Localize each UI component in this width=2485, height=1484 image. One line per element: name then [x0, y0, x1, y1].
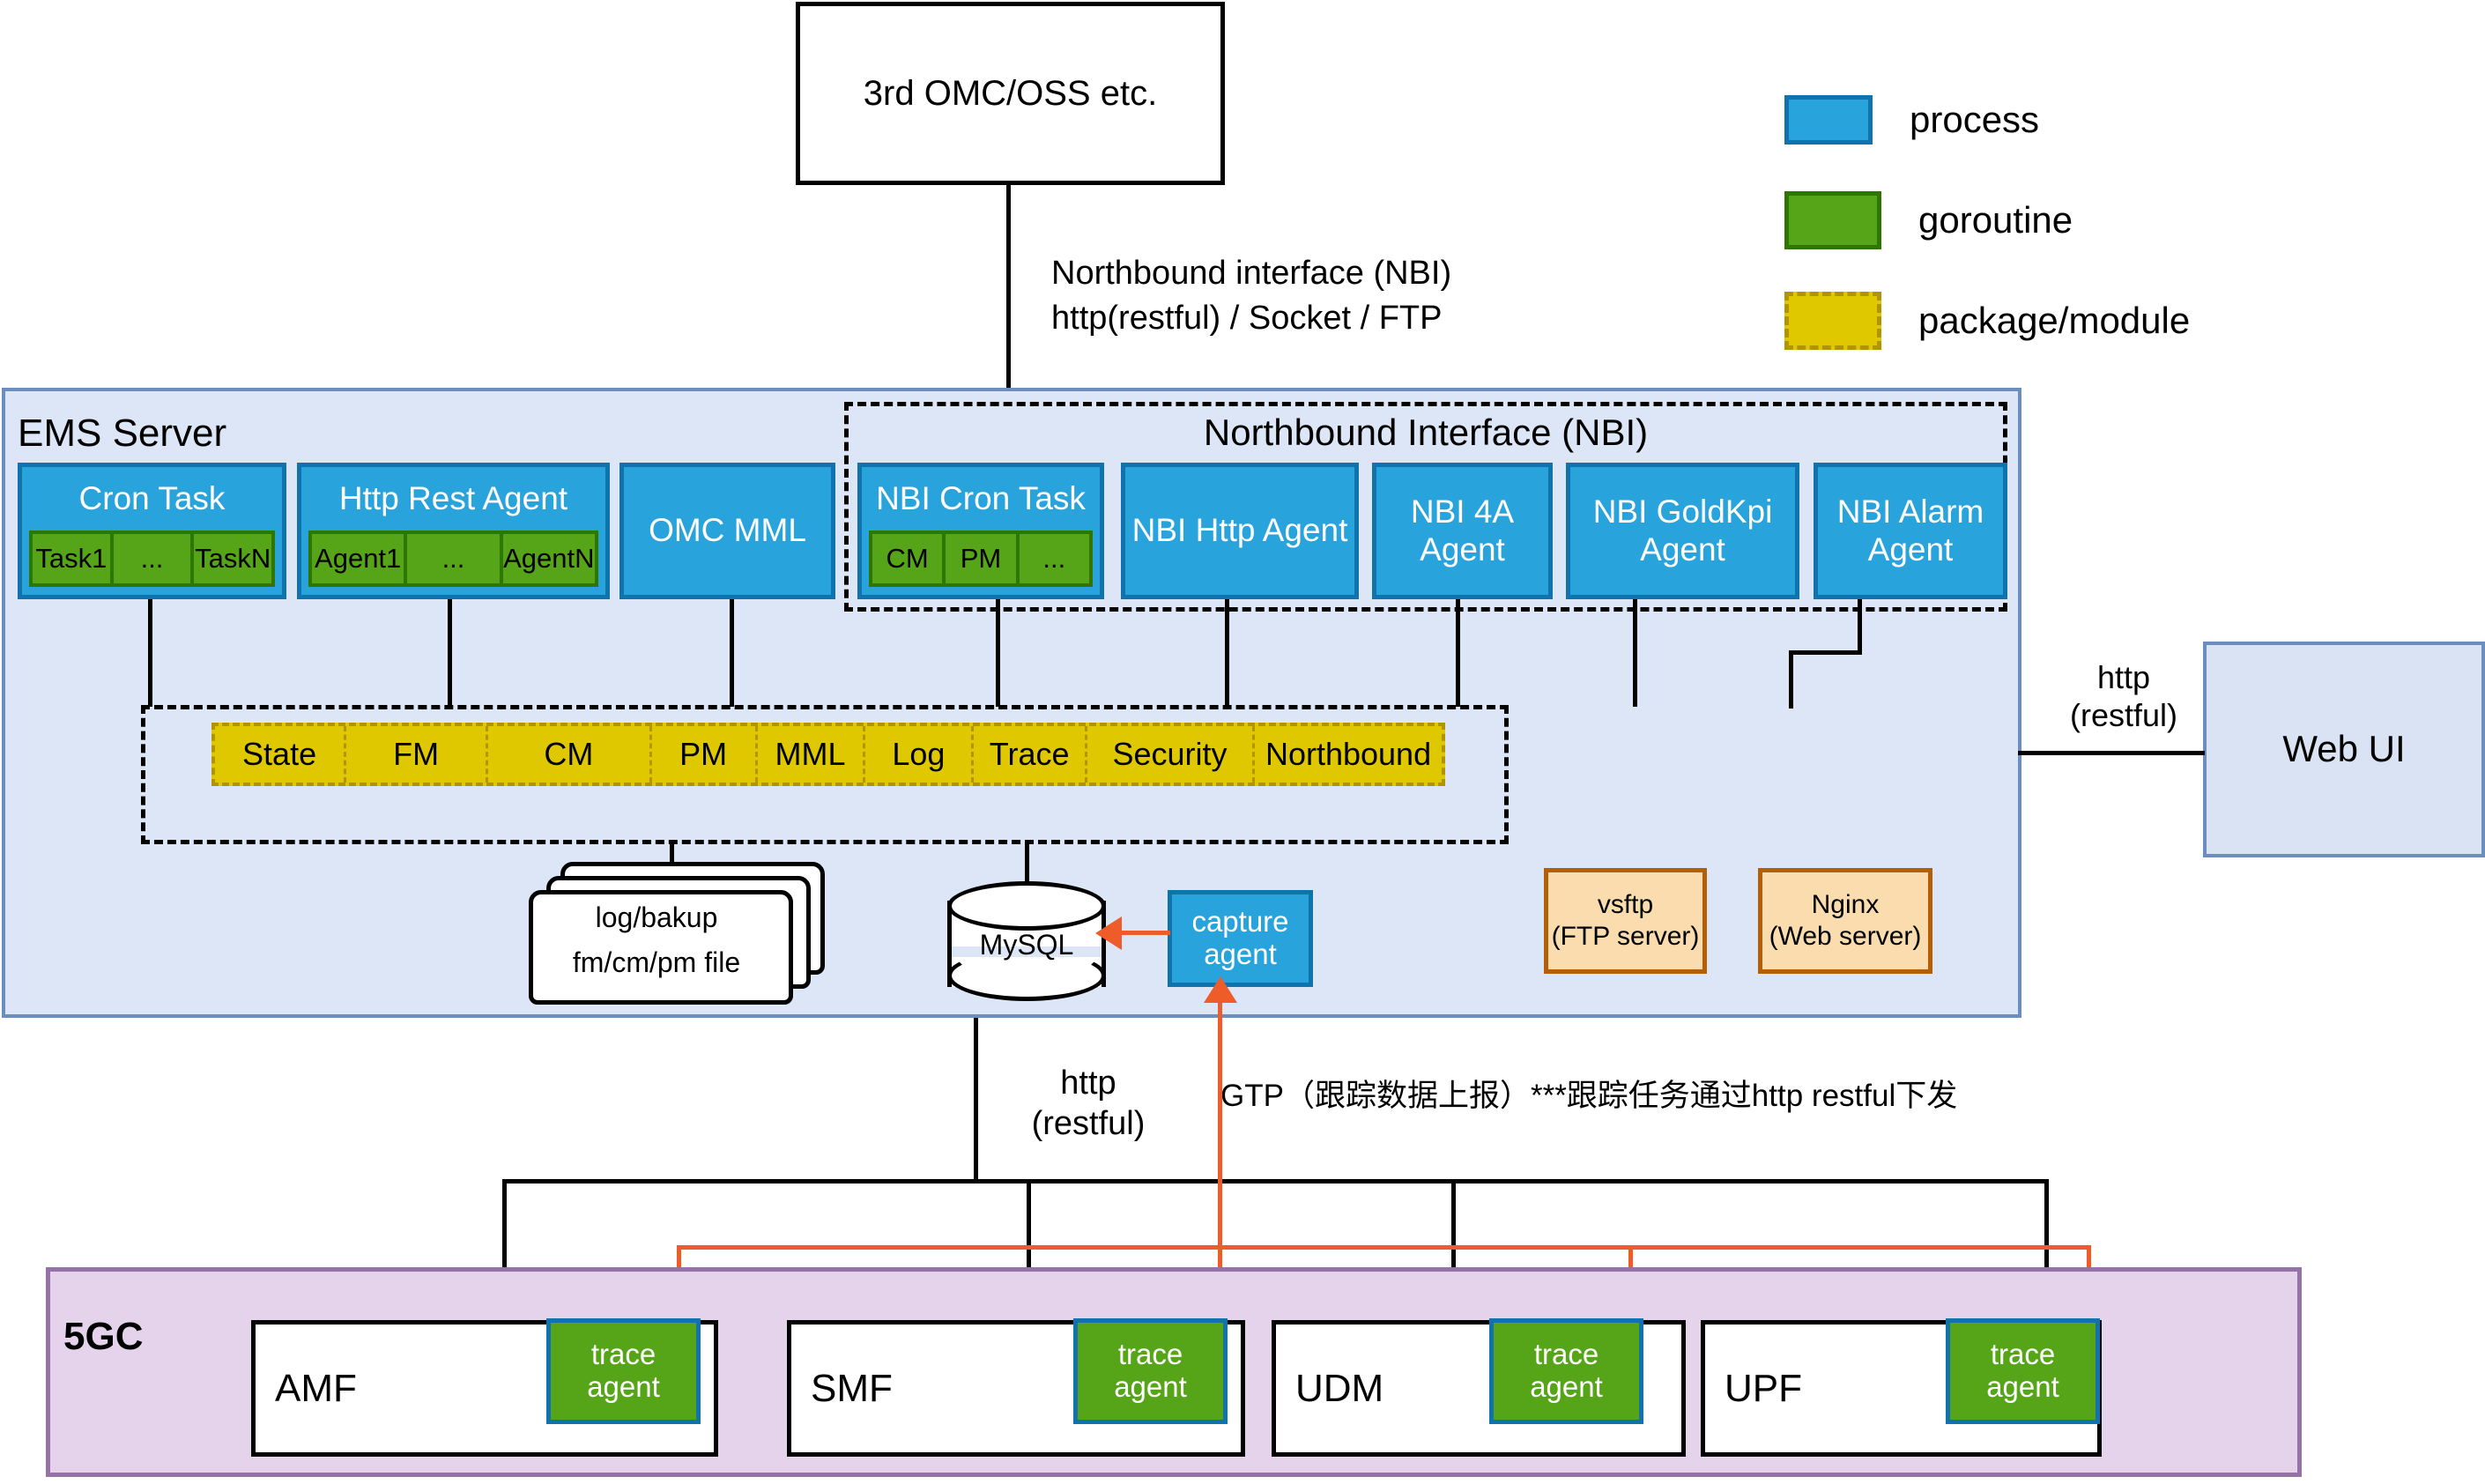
server-vsftp-line1: vsftp — [1598, 889, 1653, 921]
web-ui-label: Web UI — [2282, 728, 2405, 770]
goroutine-ellipsis[interactable]: ... — [1018, 531, 1093, 587]
southbound-http-line1: http — [1060, 1064, 1116, 1104]
connector-http-rest-agent-to-bus — [448, 599, 452, 707]
process-nbi-http-agent[interactable]: NBI Http Agent — [1121, 463, 1359, 599]
gtp-trunk-arrow-head — [1204, 976, 1237, 1003]
module-mml[interactable]: MML — [758, 726, 866, 783]
arrow-capture-agent-to-mysql-line — [1117, 931, 1170, 935]
connector-nbi-4a-agent-to-bus — [1456, 599, 1460, 707]
southbound-http-line2: (restful) — [1032, 1104, 1146, 1145]
connector-nbi-alarm-agent-seg1 — [1858, 599, 1862, 654]
goroutine-ellipsis[interactable]: ... — [405, 531, 501, 587]
trace-agent-smf[interactable]: trace agent — [1073, 1318, 1228, 1424]
trace-agent-amf[interactable]: trace agent — [546, 1318, 701, 1424]
bus-5gc-horizontal — [502, 1179, 2049, 1183]
web-ui-link-line2: (restful) — [2070, 696, 2177, 734]
process-nbi-4a-agent[interactable]: NBI 4A Agent — [1372, 463, 1553, 599]
trace-agent-udm[interactable]: trace agent — [1489, 1318, 1643, 1424]
legend-label-package: package/module — [1918, 300, 2190, 342]
process-omc-mml-label: OMC MML — [649, 512, 806, 550]
nf-udm-label: UDM — [1295, 1367, 1383, 1411]
process-nbi-cron-task-label: NBI Cron Task — [862, 467, 1100, 531]
goroutine-task1[interactable]: Task1 — [29, 531, 112, 587]
server-vsftp[interactable]: vsftp (FTP server) — [1544, 868, 1707, 974]
process-nbi-cron-task[interactable]: NBI Cron Task CM PM ... — [857, 463, 1104, 599]
legend-swatch-process — [1784, 95, 1873, 145]
goroutine-cm[interactable]: CM — [869, 531, 944, 587]
connector-nbi-http-agent-to-bus — [1225, 599, 1229, 707]
connector-ems-to-web-ui — [2018, 751, 2205, 755]
server-nginx-line2: (Web server) — [1769, 921, 1922, 953]
process-omc-mml[interactable]: OMC MML — [619, 463, 835, 599]
module-state[interactable]: State — [215, 726, 346, 783]
capture-agent-line2: agent — [1204, 939, 1277, 971]
nbi-group-title: Northbound Interface (NBI) — [844, 407, 2007, 458]
web-ui-link-line1: http — [2097, 658, 2150, 696]
gtp-note-label: GTP（跟踪数据上报）***跟踪任务通过http restful下发 — [1220, 1071, 2155, 1116]
southbound-http-label: http (restful) — [991, 1053, 1185, 1154]
process-nbi-goldkpi-agent[interactable]: NBI GoldKpi Agent — [1566, 463, 1799, 599]
nbi-link-line2: http(restful) / Socket / FTP — [1051, 296, 1598, 341]
process-cron-task[interactable]: Cron Task Task1 ... TaskN — [18, 463, 286, 599]
third-party-oms-label: 3rd OMC/OSS etc. — [864, 73, 1157, 114]
process-http-rest-agent-label: Http Rest Agent — [301, 467, 605, 531]
process-nbi-4a-agent-label: NBI 4A Agent — [1376, 493, 1548, 568]
nf-upf-label: UPF — [1725, 1367, 1802, 1411]
connector-nbi-goldkpi-agent-to-bus — [1633, 599, 1637, 707]
file-stack-line1: log/bakup — [596, 902, 718, 934]
nbi-link-label: Northbound interface (NBI) http(restful)… — [1051, 251, 1598, 342]
trace-agent-smf-line1: trace — [1118, 1339, 1183, 1371]
process-nbi-alarm-agent[interactable]: NBI Alarm Agent — [1814, 463, 2007, 599]
process-capture-agent[interactable]: capture agent — [1168, 890, 1313, 987]
module-bus: State FM CM PM MML Log Trace Security No… — [211, 723, 1445, 786]
connector-ems-to-5gc-trunk — [974, 1018, 978, 1179]
module-trace[interactable]: Trace — [974, 726, 1087, 783]
nbi-link-line1: Northbound interface (NBI) — [1051, 251, 1598, 296]
module-pm[interactable]: PM — [652, 726, 758, 783]
trace-agent-amf-line1: trace — [591, 1339, 656, 1371]
connector-cron-task-to-bus — [148, 599, 152, 707]
module-log[interactable]: Log — [865, 726, 974, 783]
nf-amf-label: AMF — [275, 1367, 357, 1411]
legend-swatch-package — [1784, 292, 1881, 350]
process-nbi-http-agent-label: NBI Http Agent — [1132, 512, 1348, 550]
goroutine-taskn[interactable]: TaskN — [192, 531, 275, 587]
trace-agent-upf[interactable]: trace agent — [1946, 1318, 2100, 1424]
capture-agent-line1: capture — [1191, 906, 1288, 939]
trace-agent-smf-line2: agent — [1114, 1371, 1187, 1404]
process-nbi-goldkpi-agent-label: NBI GoldKpi Agent — [1570, 493, 1795, 568]
module-fm[interactable]: FM — [346, 726, 488, 783]
5gc-title: 5GC — [63, 1315, 143, 1359]
legend-item-goroutine: goroutine — [1784, 193, 2401, 248]
server-nginx-line1: Nginx — [1812, 889, 1880, 921]
module-security[interactable]: Security — [1087, 726, 1255, 783]
server-vsftp-line2: (FTP server) — [1552, 921, 1700, 953]
web-ui-box[interactable]: Web UI — [2203, 642, 2485, 857]
legend-label-goroutine: goroutine — [1918, 199, 2073, 241]
connector-nbi-alarm-agent-seg3 — [1789, 650, 1793, 709]
legend-item-package: package/module — [1784, 293, 2401, 348]
mysql-label: MySQL — [947, 918, 1106, 971]
process-cron-task-label: Cron Task — [22, 467, 282, 531]
gtp-bus-horizontal — [677, 1245, 2091, 1250]
goroutine-ellipsis[interactable]: ... — [112, 531, 193, 587]
connector-oss-to-nbi — [1006, 185, 1011, 392]
arrow-capture-agent-to-mysql-head — [1095, 916, 1122, 950]
third-party-oms-box: 3rd OMC/OSS etc. — [796, 2, 1225, 185]
legend-label-process: process — [1910, 99, 2039, 141]
legend: process goroutine package/module — [1784, 93, 2401, 348]
process-nbi-alarm-agent-label: NBI Alarm Agent — [1818, 493, 2003, 568]
nf-smf-label: SMF — [811, 1367, 893, 1411]
trace-agent-upf-line1: trace — [1991, 1339, 2055, 1371]
connector-nbi-cron-task-to-bus — [996, 599, 1000, 707]
file-stack-label: log/bakup fm/cm/pm file — [529, 901, 784, 980]
connector-omc-mml-to-bus — [730, 599, 734, 707]
web-ui-link-label: http (restful) — [2036, 652, 2212, 740]
server-nginx[interactable]: Nginx (Web server) — [1758, 868, 1932, 974]
trace-agent-udm-line2: agent — [1530, 1371, 1603, 1404]
legend-item-process: process — [1784, 93, 2401, 147]
gtp-trunk-vertical — [1218, 1000, 1222, 1247]
goroutine-pm[interactable]: PM — [944, 531, 1017, 587]
trace-agent-upf-line2: agent — [1986, 1371, 2059, 1404]
goroutine-agent1[interactable]: Agent1 — [308, 531, 405, 587]
connector-nbi-alarm-agent-seg2 — [1789, 650, 1862, 655]
module-northbound[interactable]: Northbound — [1255, 726, 1442, 783]
goroutine-agentn[interactable]: AgentN — [501, 531, 598, 587]
ems-server-title: EMS Server — [18, 412, 226, 456]
legend-swatch-goroutine — [1784, 191, 1881, 249]
trace-agent-udm-line1: trace — [1534, 1339, 1599, 1371]
module-cm[interactable]: CM — [488, 726, 652, 783]
trace-agent-amf-line2: agent — [587, 1371, 660, 1404]
file-stack-line2: fm/cm/pm file — [573, 946, 740, 979]
mysql-database: MySQL — [947, 881, 1106, 1009]
process-http-rest-agent[interactable]: Http Rest Agent Agent1 ... AgentN — [297, 463, 610, 599]
